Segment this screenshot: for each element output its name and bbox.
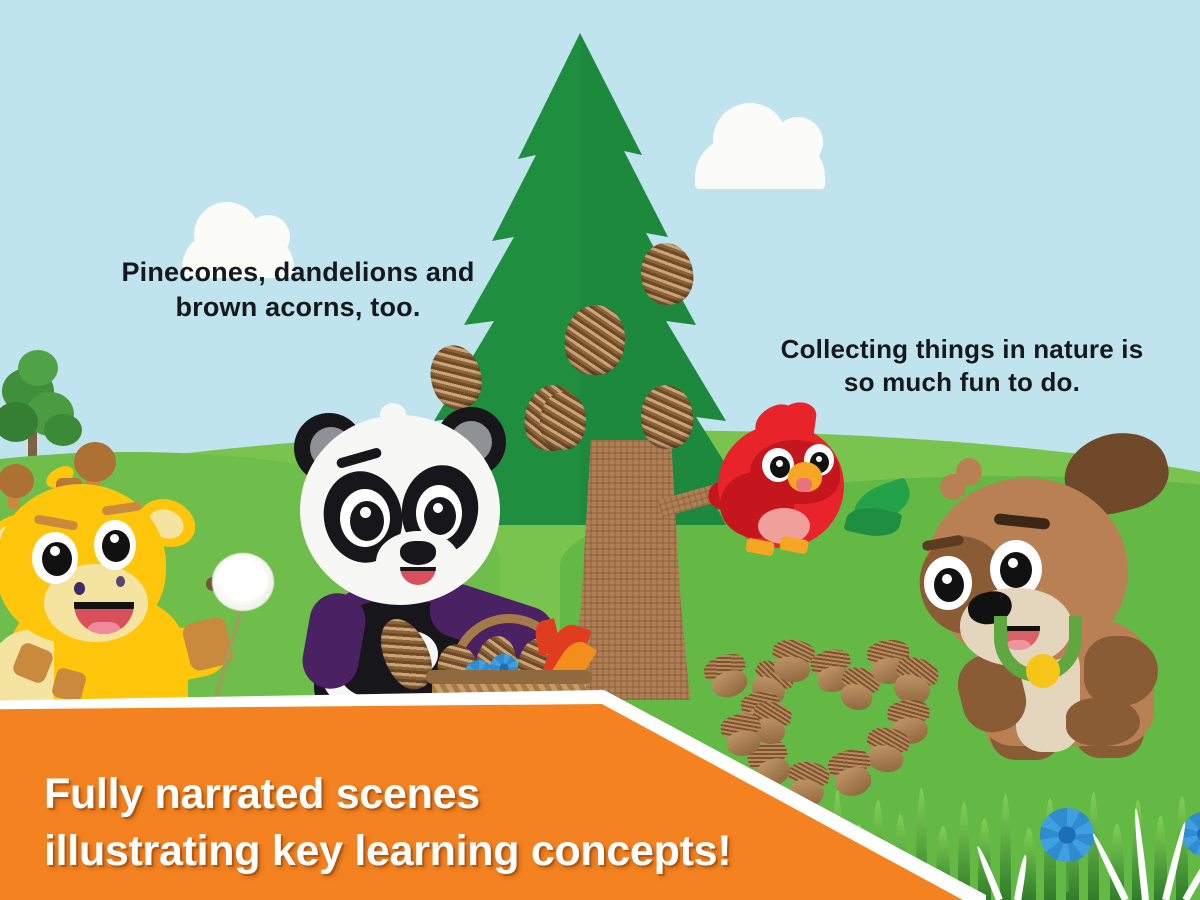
caption-right: Collecting things in nature is so much f…: [742, 333, 1182, 400]
white-grass-sprig: [986, 826, 1056, 900]
promo-banner: Fully narrated scenes illustrating key l…: [0, 690, 996, 900]
caption-left: Pinecones, dandelions and brown acorns, …: [88, 255, 508, 324]
banner-text: Fully narrated scenes illustrating key l…: [44, 766, 804, 880]
illustration-scene: Pinecones, dandelions and brown acorns, …: [0, 0, 1200, 900]
character-cardinal-bird: [712, 400, 872, 570]
panda-nose: [400, 541, 436, 565]
white-grass-sprig: [1102, 800, 1200, 900]
collar-tag-icon: [1026, 654, 1060, 688]
dandelion-puff-icon: [196, 555, 286, 695]
